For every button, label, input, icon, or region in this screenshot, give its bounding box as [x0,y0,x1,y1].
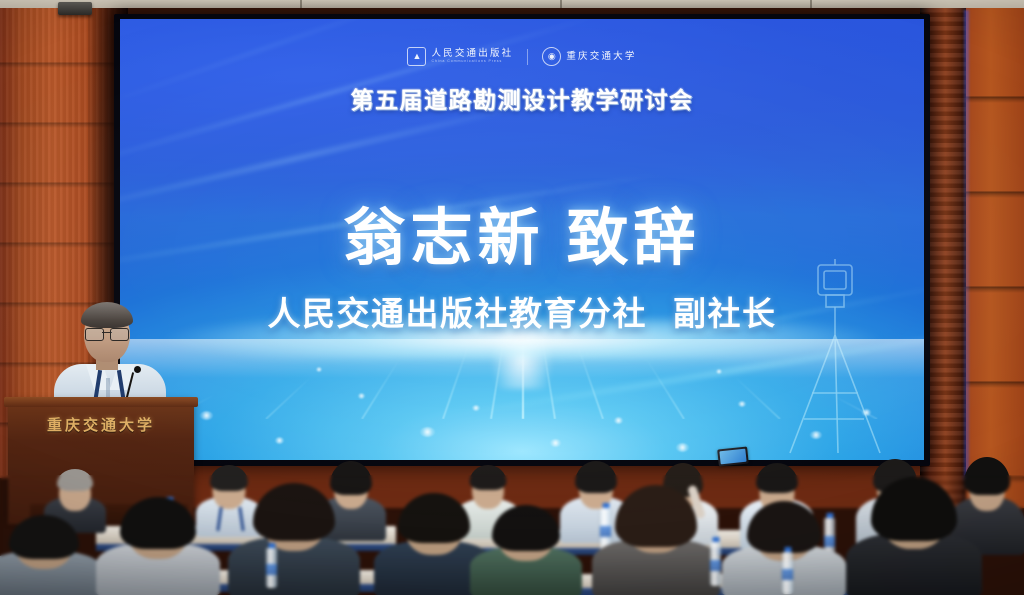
publisher-name-en: China Communications Press [431,60,513,64]
audience-member-foreground [592,495,720,595]
logo-divider [527,49,528,65]
university-logo: ◉ 重庆交通大学 [542,47,636,66]
audience-member-foreground [228,491,360,595]
speech-action-text: 致辞 [567,204,701,273]
speaker-hair [81,302,133,328]
speaker-org-text: 人民交通出版社教育分社 [268,295,648,332]
audience-member-foreground [0,523,102,595]
speaker-glasses-icon [85,328,129,339]
university-emblem-icon: ◉ [542,47,561,66]
university-name-cn: 重庆交通大学 [566,52,636,62]
screen-logo-row: ▲ 人民交通出版社 China Communications Press ◉ 重… [120,47,924,66]
ceiling-projector [58,2,92,15]
slide-subtitle: 人民交通出版社教育分社副社长 [120,287,924,335]
column-edge-light [964,10,969,480]
microphone-head [134,366,141,373]
audience-member-foreground [470,511,582,595]
audience-member-foreground [96,503,220,595]
publisher-emblem-icon: ▲ [407,47,426,66]
water-bottle [266,548,277,588]
phone-screen [719,449,746,465]
speaker-name-text: 翁志新 [343,204,544,273]
conference-photo-scene: ▲ 人民交通出版社 China Communications Press ◉ 重… [0,0,1024,595]
audience-member-foreground [846,487,982,595]
water-bottle [782,552,793,594]
publisher-name-cn: 人民交通出版社 [431,49,513,59]
publisher-logo: ▲ 人民交通出版社 China Communications Press [407,47,513,66]
lectern-top-edge [4,397,198,407]
audience-area [0,430,1024,595]
water-bottle [710,542,721,586]
presentation-screen: ▲ 人民交通出版社 China Communications Press ◉ 重… [120,19,924,460]
slide-main-title: 翁志新致辞 [120,187,924,277]
speaker-role-text: 副社长 [673,295,777,332]
conference-banner-title: 第五届道路勘测设计教学研讨会 [120,81,924,115]
